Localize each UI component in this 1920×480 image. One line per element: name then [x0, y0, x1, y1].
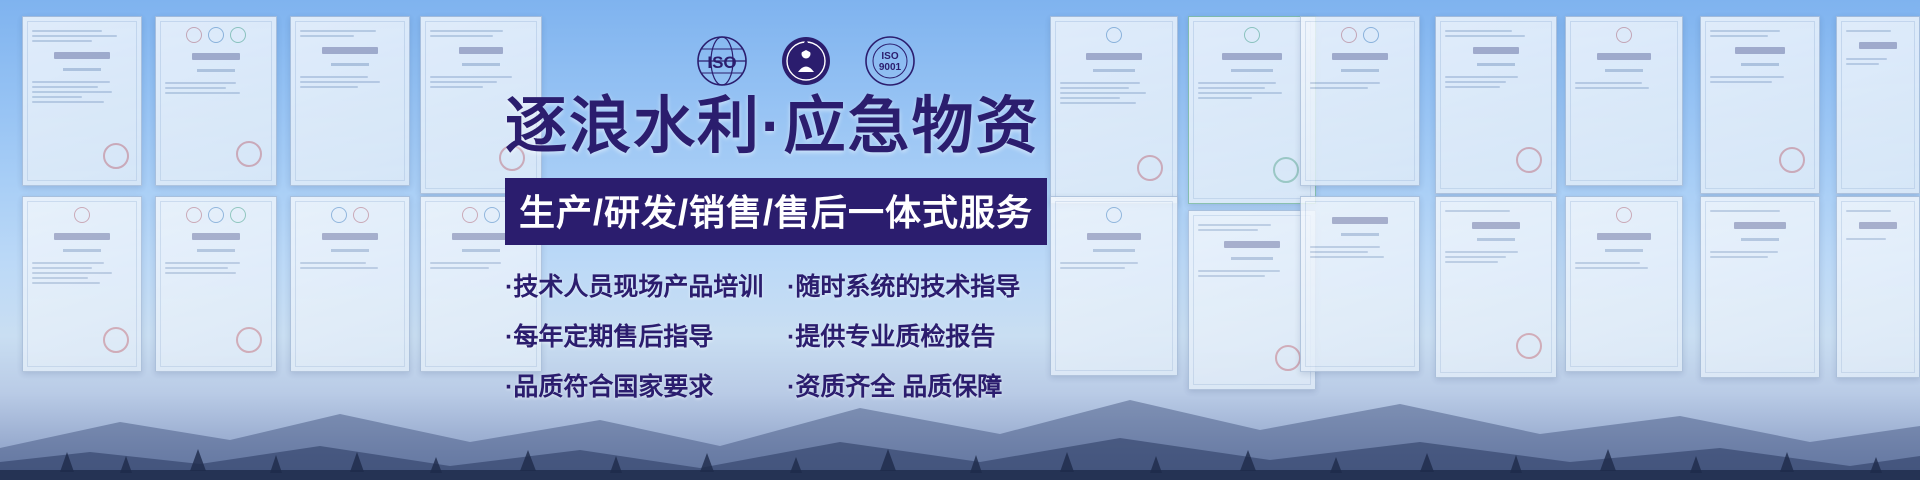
certificate-thumbnail [22, 16, 142, 186]
certificate-thumbnail [1700, 16, 1820, 194]
feature-item: ·资质齐全 品质保障 [787, 367, 1085, 403]
banner-headline: 逐浪水利·应急物资 [505, 96, 1085, 158]
certificate-thumbnail [290, 16, 410, 186]
certificate-thumbnail [155, 196, 277, 372]
certificate-thumbnail [1435, 196, 1557, 378]
certificate-thumbnail [155, 16, 277, 186]
certificate-thumbnail [1836, 16, 1920, 194]
iso-9001-badge-label-top: ISO [881, 51, 898, 62]
certificate-thumbnail [1188, 16, 1316, 204]
feature-list: ·技术人员现场产品培训 ·随时系统的技术指导 ·每年定期售后指导 ·提供专业质检… [505, 267, 1085, 403]
certificate-thumbnail [290, 196, 410, 372]
banner-subtitle-bar: 生产/研发/销售/售后一体式服务 [505, 178, 1047, 245]
certificate-thumbnail [1435, 16, 1557, 194]
certification-badges: ISO ISO 9001 [695, 34, 917, 88]
certificate-thumbnail [1836, 196, 1920, 378]
feature-item: ·提供专业质检报告 [787, 317, 1085, 353]
certificate-thumbnail [1300, 196, 1420, 372]
certificate-thumbnail [1188, 210, 1316, 390]
iso-badge: ISO [695, 34, 749, 88]
feature-item: ·技术人员现场产品培训 [505, 267, 777, 303]
certification-seal-badge [779, 34, 833, 88]
certificate-thumbnail [22, 196, 142, 372]
certificate-thumbnail [1700, 196, 1820, 378]
iso-9001-badge-label-bottom: 9001 [879, 62, 902, 73]
promo-banner: ISO ISO 9001 逐浪水利·应急物资 生产/研发/销售/售后一体式服务 [0, 0, 1920, 480]
banner-content: 逐浪水利·应急物资 生产/研发/销售/售后一体式服务 ·技术人员现场产品培训 ·… [505, 96, 1085, 403]
iso-badge-label: ISO [707, 53, 736, 72]
feature-item: ·品质符合国家要求 [505, 367, 777, 403]
feature-item: ·每年定期售后指导 [505, 317, 777, 353]
certificate-thumbnail [1565, 196, 1683, 372]
iso-9001-badge: ISO 9001 [863, 34, 917, 88]
feature-item: ·随时系统的技术指导 [787, 267, 1085, 303]
certificate-thumbnail [1565, 16, 1683, 186]
certificate-thumbnail [1300, 16, 1420, 186]
